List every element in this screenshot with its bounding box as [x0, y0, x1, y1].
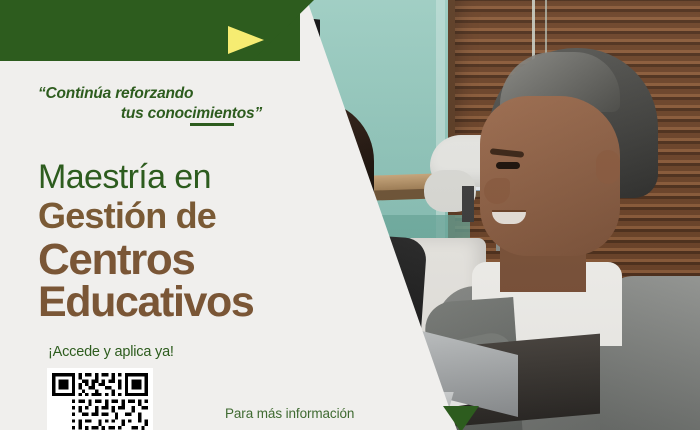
program-title-line-2: Gestión de: [38, 196, 216, 236]
program-title-line-1: Maestría en: [38, 158, 211, 196]
man-ear: [596, 150, 620, 184]
tagline-line-2: tus conocimientos”: [38, 104, 268, 124]
tagline-underline: [190, 123, 234, 126]
man-nose: [484, 178, 510, 204]
qr-code-icon[interactable]: [52, 373, 148, 430]
promotional-poster: “Continúa reforzando tus conocimientos” …: [0, 0, 700, 430]
more-info-text: Para más información: [225, 406, 354, 421]
poster-content: “Continúa reforzando tus conocimientos” …: [0, 0, 470, 430]
man-eye: [496, 162, 520, 169]
tagline-line-1: “Continúa reforzando: [38, 84, 268, 104]
tagline-quote: “Continúa reforzando tus conocimientos”: [38, 84, 268, 124]
qr-code-container[interactable]: [47, 368, 153, 430]
program-title-line-4: Educativos: [38, 278, 253, 326]
program-title-line-3: Centros: [38, 236, 194, 284]
call-to-action-text: ¡Accede y aplica ya!: [48, 344, 174, 360]
